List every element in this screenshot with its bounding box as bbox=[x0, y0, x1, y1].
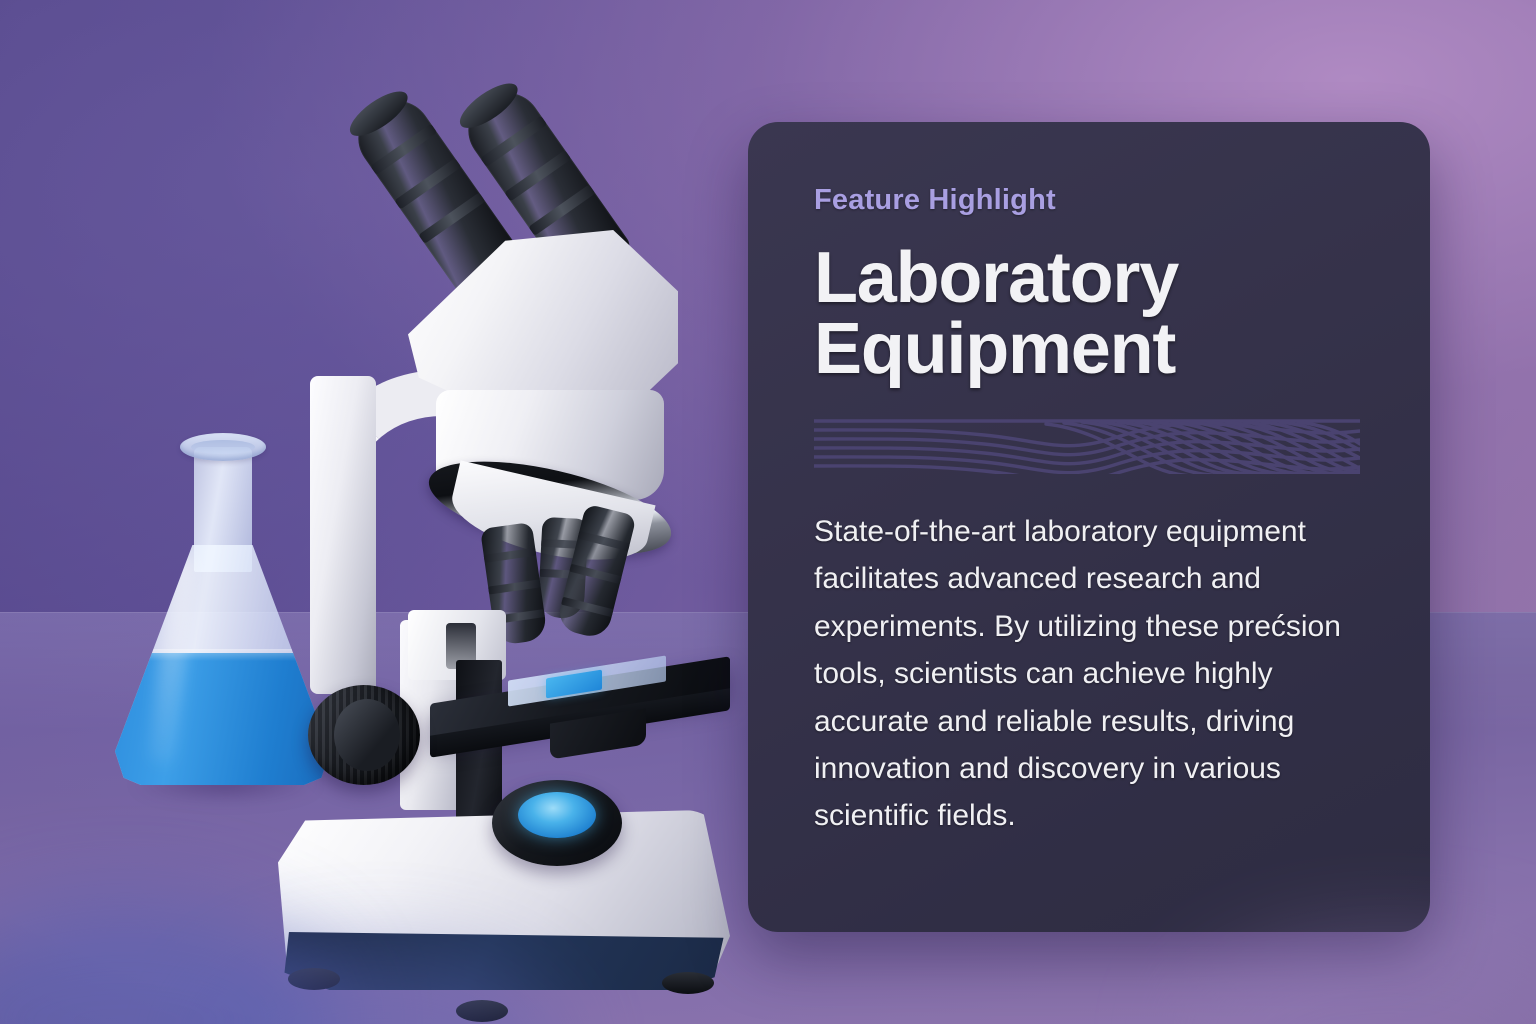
card-body-text: State-of-the-art laboratory equipment fa… bbox=[814, 508, 1380, 840]
eyepiece-rim bbox=[418, 192, 485, 243]
eyepiece-rim bbox=[394, 158, 461, 209]
base-foot bbox=[456, 1000, 508, 1022]
page-title-line-2: Equipment bbox=[814, 314, 1364, 385]
microscope bbox=[250, 120, 750, 910]
card-eyebrow: Feature Highlight bbox=[814, 184, 1364, 217]
page-title-line-1: Laboratory bbox=[814, 243, 1364, 314]
feature-highlight-screenshot: Feature Highlight Laboratory Equipment bbox=[0, 0, 1536, 1024]
focus-knob bbox=[308, 685, 420, 785]
illuminator-lens bbox=[518, 792, 596, 838]
objective-rim bbox=[569, 564, 621, 584]
base-foot bbox=[288, 968, 340, 990]
wave-pattern-divider bbox=[814, 418, 1360, 474]
page-title: Laboratory Equipment bbox=[814, 243, 1364, 384]
eyepiece-rim bbox=[528, 184, 595, 235]
microscope-arm bbox=[310, 376, 376, 694]
feature-card: Feature Highlight Laboratory Equipment bbox=[748, 122, 1430, 932]
eyepiece-rim bbox=[480, 116, 547, 167]
objective-rim bbox=[561, 597, 613, 617]
eyepiece-rim bbox=[504, 150, 571, 201]
objective-rim bbox=[488, 579, 541, 594]
objective-rim bbox=[578, 531, 630, 551]
eyepiece-rim bbox=[370, 124, 437, 175]
objective-rim bbox=[484, 548, 537, 563]
base-foot bbox=[662, 972, 714, 994]
microscope-base-trim bbox=[280, 932, 728, 990]
